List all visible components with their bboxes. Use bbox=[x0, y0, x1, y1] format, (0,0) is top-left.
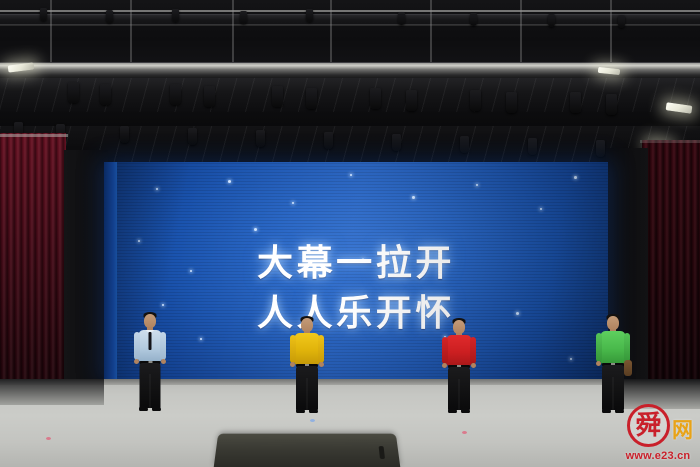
performer-leg-split bbox=[459, 379, 460, 410]
stage-lamp bbox=[324, 132, 333, 149]
stage-lamp bbox=[100, 84, 111, 105]
screen-star bbox=[362, 258, 364, 260]
floor-shadow-left bbox=[0, 379, 104, 405]
stage-lamp bbox=[406, 90, 417, 111]
stage-lamp bbox=[204, 86, 215, 107]
screen-star bbox=[228, 180, 231, 183]
screen-star bbox=[200, 338, 202, 340]
screen-headline-line-1: 大幕一拉开 bbox=[104, 234, 608, 286]
performer-hand-right bbox=[319, 362, 324, 367]
stage-lamp bbox=[398, 12, 405, 25]
stage-lamp bbox=[306, 9, 313, 22]
performer-hand-right bbox=[471, 363, 476, 368]
laser-dot bbox=[462, 431, 467, 434]
stage-lamp bbox=[170, 84, 181, 105]
stage-lamp bbox=[506, 92, 517, 113]
stage-lamp bbox=[256, 130, 265, 147]
stage-photograph: 大幕一拉开 人人乐开怀 bbox=[0, 0, 700, 467]
performer-1 bbox=[131, 312, 169, 412]
performer-leg-split bbox=[613, 377, 614, 410]
truss-post bbox=[330, 0, 332, 62]
performer-shoe-left bbox=[139, 406, 148, 411]
screen-headline-line-2: 人人乐开怀 bbox=[104, 284, 608, 336]
stage-lamp bbox=[460, 136, 469, 153]
performer-arm-right bbox=[318, 335, 324, 363]
stage-lamp bbox=[188, 128, 197, 145]
performer-arm-right bbox=[624, 333, 630, 362]
performer-head bbox=[453, 320, 465, 334]
curtain-rail-left bbox=[0, 134, 68, 137]
monitor-vent bbox=[379, 446, 385, 459]
screen-star bbox=[162, 304, 164, 306]
screen-star bbox=[156, 188, 158, 190]
stage-lamp bbox=[570, 92, 581, 113]
performer-arm-right bbox=[160, 332, 166, 360]
curtain-rail-right bbox=[640, 140, 700, 143]
performer-arm-left bbox=[596, 333, 602, 362]
screen-star bbox=[254, 228, 257, 231]
performer-arm-left bbox=[442, 337, 448, 364]
screen-star bbox=[292, 202, 294, 204]
truss-post bbox=[520, 0, 522, 62]
performer-hand-left bbox=[290, 362, 295, 367]
performer-hand-prop bbox=[624, 360, 632, 376]
performer-shoe-right bbox=[152, 406, 161, 411]
performer-4 bbox=[594, 314, 632, 414]
performer-shirt-green bbox=[601, 331, 626, 364]
performer-hand-left bbox=[134, 359, 139, 364]
screen-star bbox=[574, 176, 577, 179]
stage-lamp bbox=[392, 134, 401, 151]
screen-star bbox=[190, 270, 192, 272]
performer-hand-left bbox=[442, 363, 447, 368]
stage-lamp bbox=[606, 94, 617, 115]
performer-hand-left bbox=[596, 361, 601, 366]
performer-shoe-left bbox=[602, 408, 611, 413]
screen-star bbox=[476, 184, 478, 186]
floor-monitor-speaker bbox=[214, 434, 401, 467]
stage-lamp bbox=[172, 9, 179, 22]
performer-leg-split bbox=[150, 374, 151, 408]
stage-lamp bbox=[470, 13, 477, 26]
performer-shoe-right bbox=[461, 408, 470, 413]
watermark-seal-icon: 舜 bbox=[627, 404, 670, 447]
stage-lamp bbox=[240, 11, 247, 24]
laser-dot-blue bbox=[310, 419, 315, 422]
stage-lamp bbox=[596, 140, 605, 157]
stage-lamp bbox=[106, 10, 113, 23]
performer-leg-split bbox=[307, 378, 308, 410]
screen-star bbox=[540, 208, 542, 210]
performer-2 bbox=[288, 316, 326, 414]
performer-head bbox=[301, 318, 313, 332]
screen-star bbox=[138, 240, 140, 242]
screen-star bbox=[570, 358, 572, 360]
watermark: 舜 网 www.e23.cn bbox=[621, 404, 695, 464]
performer-arm-left bbox=[134, 332, 140, 360]
stage-lamp bbox=[120, 126, 129, 143]
stage-lamp bbox=[370, 88, 381, 109]
stage-lamp bbox=[306, 88, 317, 109]
truss-post bbox=[430, 0, 432, 62]
performer-shoe-left bbox=[448, 408, 457, 413]
stage-lamp bbox=[68, 82, 79, 103]
truss-post bbox=[130, 0, 132, 62]
truss-rail-top bbox=[0, 10, 700, 12]
truss-rail-top-2 bbox=[0, 24, 700, 26]
truss-post bbox=[50, 0, 52, 62]
led-video-screen: 大幕一拉开 人人乐开怀 bbox=[104, 162, 608, 380]
performer-arm-right bbox=[470, 337, 476, 364]
truss-post bbox=[610, 0, 612, 62]
screen-star bbox=[412, 196, 415, 199]
stage-lamp bbox=[618, 15, 625, 28]
ceiling-truss-area bbox=[0, 0, 700, 132]
watermark-net-char: 网 bbox=[672, 420, 693, 441]
stage-lamp bbox=[528, 138, 537, 155]
screen-star bbox=[516, 312, 519, 315]
watermark-seal-char: 舜 bbox=[635, 413, 661, 439]
stage-lamp bbox=[40, 8, 47, 21]
laser-dot bbox=[46, 437, 51, 440]
performer-shirt-yellow bbox=[295, 333, 320, 365]
performer-head bbox=[144, 314, 156, 328]
stage-lamp bbox=[548, 14, 555, 27]
performer-arm-left bbox=[290, 335, 296, 363]
performer-shirt-red bbox=[447, 335, 472, 366]
performer-necktie bbox=[149, 332, 152, 350]
led-screen-left-edge bbox=[104, 162, 117, 380]
screen-star bbox=[350, 174, 352, 176]
performer-hand-right bbox=[161, 359, 166, 364]
performer-shoe-right bbox=[309, 408, 318, 413]
performer-head bbox=[607, 316, 619, 330]
watermark-url: www.e23.cn bbox=[621, 450, 695, 462]
truss-post bbox=[232, 0, 234, 62]
stage-lamp bbox=[470, 90, 481, 111]
stage-lamp bbox=[272, 86, 283, 107]
performer-3 bbox=[440, 318, 478, 414]
performer-shoe-left bbox=[296, 408, 305, 413]
